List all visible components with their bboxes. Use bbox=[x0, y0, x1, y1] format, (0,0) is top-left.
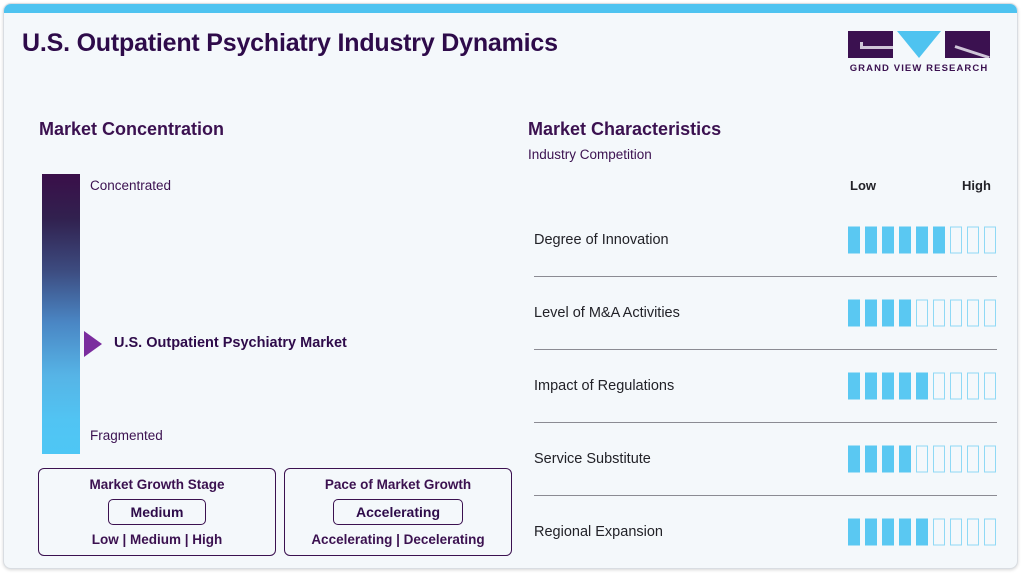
characteristic-row: Service Substitute bbox=[534, 423, 997, 496]
meter-segment-filled bbox=[882, 300, 894, 327]
meter-segment-filled bbox=[848, 519, 860, 546]
meter-segment-filled bbox=[848, 446, 860, 473]
concentration-marker-label: U.S. Outpatient Psychiatry Market bbox=[114, 335, 347, 351]
characteristic-label: Level of M&A Activities bbox=[534, 305, 680, 321]
meter-segment-empty bbox=[950, 227, 962, 254]
meter-segment-empty bbox=[950, 373, 962, 400]
meter-segment-empty bbox=[984, 519, 996, 546]
meter-segment-empty bbox=[950, 446, 962, 473]
meter-segment-filled bbox=[899, 519, 911, 546]
characteristic-meter bbox=[848, 519, 996, 546]
meter-segment-filled bbox=[916, 373, 928, 400]
logo-g-block-icon bbox=[848, 31, 893, 58]
logo-r-block-icon bbox=[945, 31, 990, 58]
characteristic-label: Impact of Regulations bbox=[534, 378, 674, 394]
meter-segment-empty bbox=[984, 373, 996, 400]
meter-segment-empty bbox=[933, 519, 945, 546]
characteristic-meter bbox=[848, 446, 996, 473]
meter-segment-empty bbox=[950, 519, 962, 546]
concentration-gradient-bar bbox=[42, 174, 80, 454]
meter-segment-filled bbox=[882, 519, 894, 546]
meter-segment-filled bbox=[882, 446, 894, 473]
market-growth-stage-box: Market Growth Stage Medium Low | Medium … bbox=[38, 468, 276, 556]
logo-marks bbox=[845, 30, 993, 58]
meter-axis-high-label: High bbox=[962, 178, 991, 193]
characteristic-row: Degree of Innovation bbox=[534, 204, 997, 277]
meter-segment-filled bbox=[899, 446, 911, 473]
meter-segment-filled bbox=[899, 227, 911, 254]
meter-segment-filled bbox=[848, 373, 860, 400]
market-growth-stage-value: Medium bbox=[108, 499, 207, 525]
meter-segment-filled bbox=[865, 519, 877, 546]
pace-of-market-growth-value: Accelerating bbox=[333, 499, 463, 525]
meter-segment-empty bbox=[967, 227, 979, 254]
meter-segment-filled bbox=[865, 446, 877, 473]
meter-segment-empty bbox=[967, 373, 979, 400]
meter-segment-filled bbox=[916, 519, 928, 546]
meter-segment-empty bbox=[950, 300, 962, 327]
characteristic-row: Impact of Regulations bbox=[534, 350, 997, 423]
characteristic-meter bbox=[848, 300, 996, 327]
meter-segment-filled bbox=[865, 227, 877, 254]
meter-segment-empty bbox=[984, 227, 996, 254]
characteristic-meter bbox=[848, 373, 996, 400]
meter-segment-filled bbox=[848, 300, 860, 327]
characteristic-row: Level of M&A Activities bbox=[534, 277, 997, 350]
market-concentration-title: Market Concentration bbox=[39, 119, 224, 140]
meter-segment-empty bbox=[984, 446, 996, 473]
characteristic-meter bbox=[848, 227, 996, 254]
concentration-marker-arrow-icon bbox=[84, 331, 102, 357]
meter-segment-filled bbox=[882, 373, 894, 400]
meter-segment-filled bbox=[933, 227, 945, 254]
logo-text: GRAND VIEW RESEARCH bbox=[845, 63, 993, 74]
characteristic-label: Regional Expansion bbox=[534, 524, 663, 540]
meter-axis-low-label: Low bbox=[850, 178, 876, 193]
pace-of-market-growth-heading: Pace of Market Growth bbox=[325, 477, 471, 492]
meter-segment-empty bbox=[967, 519, 979, 546]
market-growth-stage-scale: Low | Medium | High bbox=[92, 532, 223, 547]
meter-segment-empty bbox=[916, 446, 928, 473]
pace-of-market-growth-box: Pace of Market Growth Accelerating Accel… bbox=[284, 468, 512, 556]
concentration-top-label: Concentrated bbox=[90, 178, 171, 193]
page-title: U.S. Outpatient Psychiatry Industry Dyna… bbox=[22, 29, 558, 58]
brand-logo: GRAND VIEW RESEARCH bbox=[845, 30, 993, 74]
top-accent-bar bbox=[4, 4, 1017, 13]
meter-segment-filled bbox=[848, 227, 860, 254]
meter-segment-empty bbox=[967, 446, 979, 473]
meter-segment-filled bbox=[865, 373, 877, 400]
characteristic-label: Service Substitute bbox=[534, 451, 651, 467]
meter-segment-empty bbox=[984, 300, 996, 327]
logo-triangle-icon bbox=[897, 31, 941, 58]
infographic-card: U.S. Outpatient Psychiatry Industry Dyna… bbox=[3, 3, 1018, 569]
meter-segment-empty bbox=[933, 300, 945, 327]
meter-segment-filled bbox=[882, 227, 894, 254]
characteristic-row: Regional Expansion bbox=[534, 496, 997, 569]
pace-of-market-growth-scale: Accelerating | Decelerating bbox=[311, 532, 484, 547]
meter-segment-filled bbox=[899, 300, 911, 327]
meter-segment-filled bbox=[916, 227, 928, 254]
meter-segment-filled bbox=[865, 300, 877, 327]
market-characteristics-rows: Degree of InnovationLevel of M&A Activit… bbox=[534, 204, 997, 569]
characteristic-label: Degree of Innovation bbox=[534, 232, 669, 248]
market-growth-stage-heading: Market Growth Stage bbox=[89, 477, 224, 492]
meter-segment-empty bbox=[967, 300, 979, 327]
meter-segment-empty bbox=[933, 446, 945, 473]
market-characteristics-title: Market Characteristics bbox=[528, 119, 721, 140]
meter-segment-empty bbox=[933, 373, 945, 400]
market-characteristics-subtitle: Industry Competition bbox=[528, 147, 652, 162]
meter-segment-empty bbox=[916, 300, 928, 327]
meter-segment-filled bbox=[899, 373, 911, 400]
concentration-bottom-label: Fragmented bbox=[90, 428, 163, 443]
